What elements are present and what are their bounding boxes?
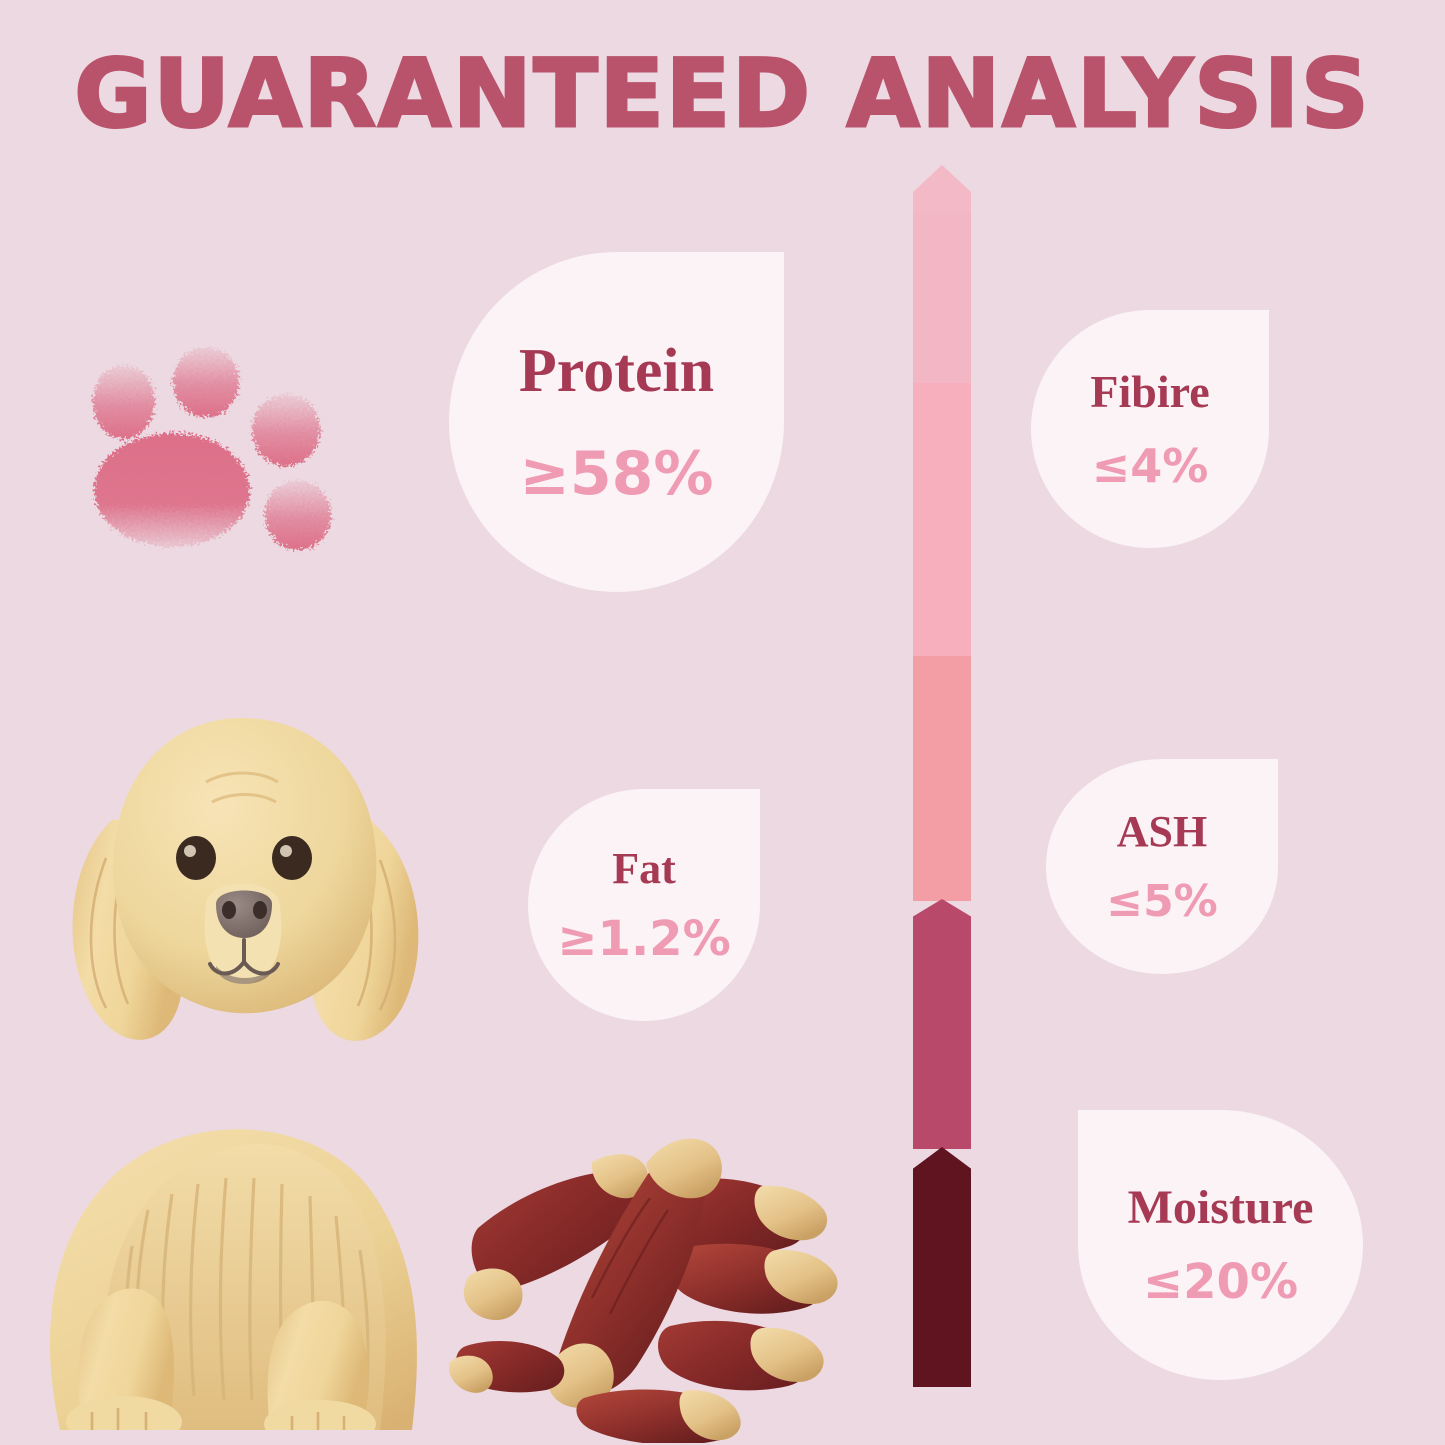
- nutrient-label-moisture: Moisture: [1128, 1184, 1314, 1232]
- nutrient-value-moisture: ≤20%: [1143, 1258, 1298, 1306]
- nutrient-label-fibire: Fibire: [1090, 369, 1209, 415]
- infographic-canvas: GUARANTEED ANALYSIS: [0, 0, 1445, 1445]
- nutrient-badge-fat[interactable]: Fat ≥1.2%: [528, 789, 760, 1021]
- gauge-band-3: [913, 656, 971, 901]
- vertical-gradient-arrow-gauge: [913, 165, 971, 1393]
- wrapped-dog-treat-sticks-image: [432, 1098, 842, 1443]
- nutrient-label-fat: Fat: [612, 847, 676, 891]
- nutrient-badge-moisture[interactable]: Moisture ≤20%: [1078, 1110, 1363, 1380]
- paw-print-icon: [72, 330, 354, 580]
- gauge-band-1: [913, 213, 971, 385]
- nutrient-label-ash: ASH: [1117, 810, 1207, 854]
- nutrient-badge-fibire[interactable]: Fibire ≤4%: [1031, 310, 1269, 548]
- nutrient-value-fibire: ≤4%: [1092, 443, 1209, 489]
- gauge-arrow-tip: [913, 165, 971, 217]
- nutrient-label-protein: Protein: [519, 340, 714, 402]
- gauge-band-2: [913, 383, 971, 658]
- page-title: GUARANTEED ANALYSIS: [0, 48, 1445, 142]
- nutrient-value-ash: ≤5%: [1106, 880, 1218, 924]
- golden-retriever-figurine-image: [20, 670, 490, 1430]
- nutrient-badge-protein[interactable]: Protein ≥58%: [449, 252, 784, 592]
- gauge-band-5: [913, 1147, 971, 1387]
- gauge-band-4: [913, 899, 971, 1149]
- nutrient-value-protein: ≥58%: [520, 444, 714, 504]
- nutrient-badge-ash[interactable]: ASH ≤5%: [1046, 759, 1278, 974]
- nutrient-value-fat: ≥1.2%: [557, 915, 730, 963]
